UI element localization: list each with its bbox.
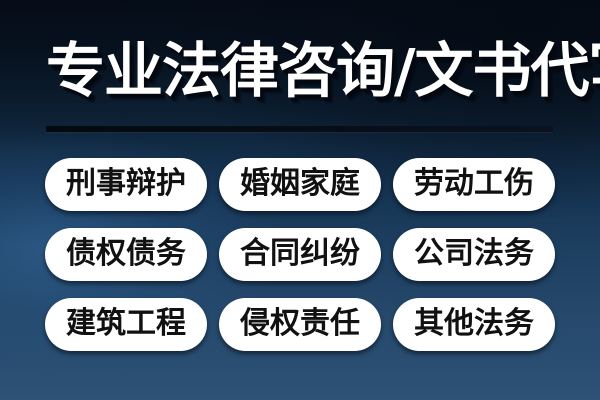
service-pill-corporate-legal[interactable]: 公司法务 <box>393 228 555 281</box>
service-pill-other-legal[interactable]: 其他法务 <box>393 298 555 351</box>
service-category-row: 债权债务 合同纠纷 公司法务 <box>45 228 555 281</box>
service-category-row: 刑事辩护 婚姻家庭 劳动工伤 <box>45 158 555 211</box>
service-pill-construction-engineering[interactable]: 建筑工程 <box>45 298 207 351</box>
service-pill-labor-injury[interactable]: 劳动工伤 <box>393 158 555 211</box>
service-pill-label: 婚姻家庭 <box>240 169 360 199</box>
service-pill-label: 公司法务 <box>414 239 534 269</box>
service-pill-label: 侵权责任 <box>240 309 360 339</box>
banner-title: 专业法律咨询/文书代写 <box>46 27 558 113</box>
service-pill-label: 债权债务 <box>66 239 186 269</box>
service-pill-contract-dispute[interactable]: 合同纠纷 <box>219 228 381 281</box>
service-category-row: 建筑工程 侵权责任 其他法务 <box>45 298 555 351</box>
service-pill-label: 刑事辩护 <box>66 169 186 199</box>
service-pill-label: 劳动工伤 <box>414 169 534 199</box>
service-pill-creditor-debt[interactable]: 债权债务 <box>45 228 207 281</box>
service-category-grid: 刑事辩护 婚姻家庭 劳动工伤 债权债务 合同纠纷 公司法务 <box>45 158 555 351</box>
service-pill-label: 其他法务 <box>414 309 534 339</box>
service-pill-tort-liability[interactable]: 侵权责任 <box>219 298 381 351</box>
service-pill-criminal-defense[interactable]: 刑事辩护 <box>45 158 207 211</box>
legal-services-banner: 专业法律咨询/文书代写 刑事辩护 婚姻家庭 劳动工伤 债权债务 合同 <box>0 0 600 400</box>
service-pill-label: 合同纠纷 <box>240 239 360 269</box>
service-pill-label: 建筑工程 <box>66 309 186 339</box>
banner-content: 专业法律咨询/文书代写 刑事辩护 婚姻家庭 劳动工伤 债权债务 合同 <box>0 0 600 400</box>
title-divider <box>46 126 553 132</box>
service-pill-marriage-family[interactable]: 婚姻家庭 <box>219 158 381 211</box>
